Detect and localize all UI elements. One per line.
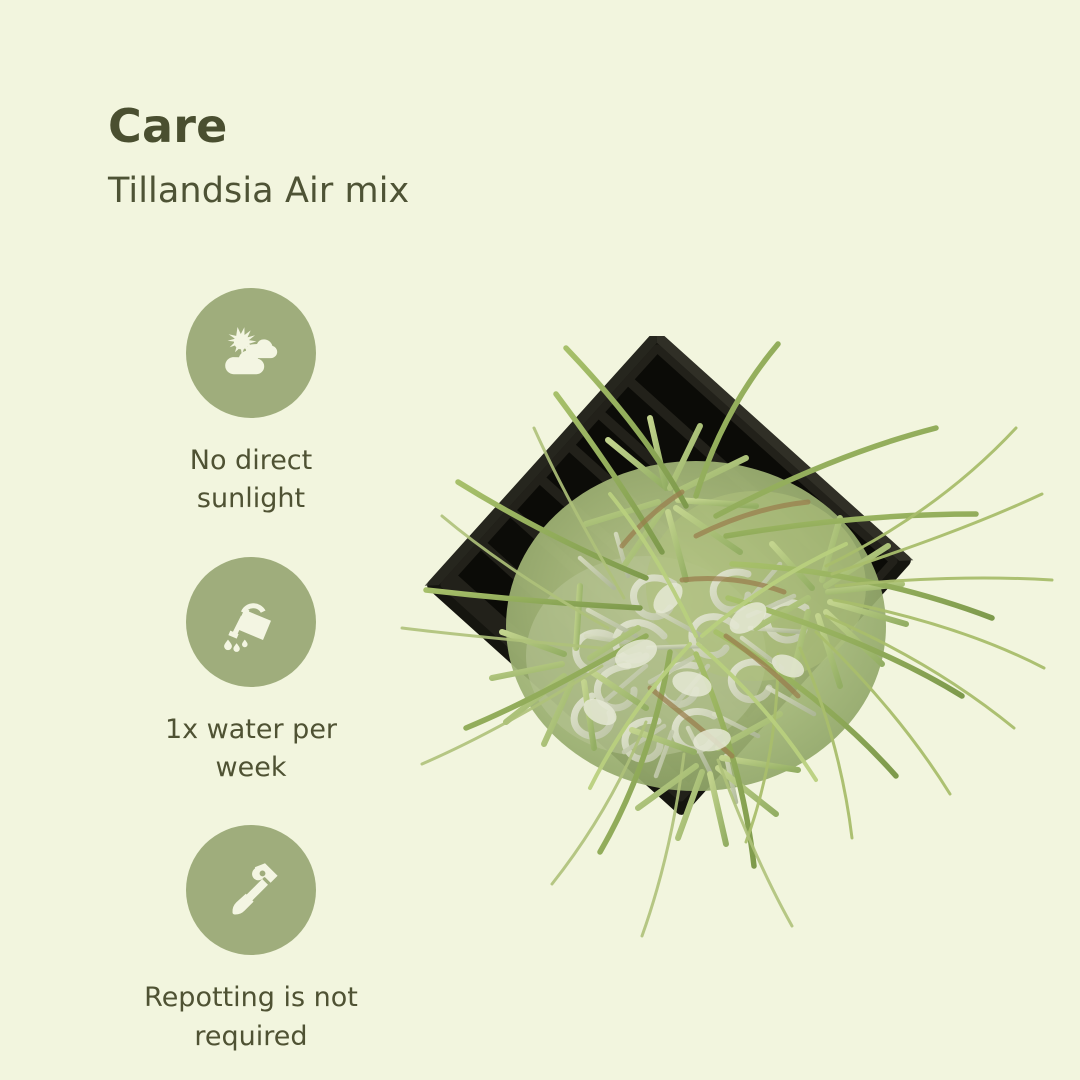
heading-block: Care Tillandsia Air mix	[108, 102, 528, 211]
care-badge-watering	[186, 557, 316, 687]
care-infographic-page: Care Tillandsia Air mix	[0, 0, 1080, 1080]
care-badge-sunlight	[186, 288, 316, 418]
care-list: No direct sunlight	[66, 288, 436, 1056]
care-label-watering: 1x water per week	[165, 711, 337, 788]
product-photo	[396, 336, 1056, 966]
shovel-icon	[220, 859, 282, 921]
care-item-sunlight: No direct sunlight	[66, 288, 436, 519]
care-label-sunlight: No direct sunlight	[190, 442, 313, 519]
care-item-watering: 1x water per week	[66, 557, 436, 788]
watering-can-icon	[218, 589, 284, 655]
care-item-repotting: Repotting is not required	[66, 825, 436, 1056]
care-badge-repotting	[186, 825, 316, 955]
page-title: Care	[108, 102, 528, 150]
sun-behind-cloud-icon	[220, 324, 282, 382]
care-label-repotting: Repotting is not required	[144, 979, 358, 1056]
page-subtitle: Tillandsia Air mix	[108, 172, 528, 211]
